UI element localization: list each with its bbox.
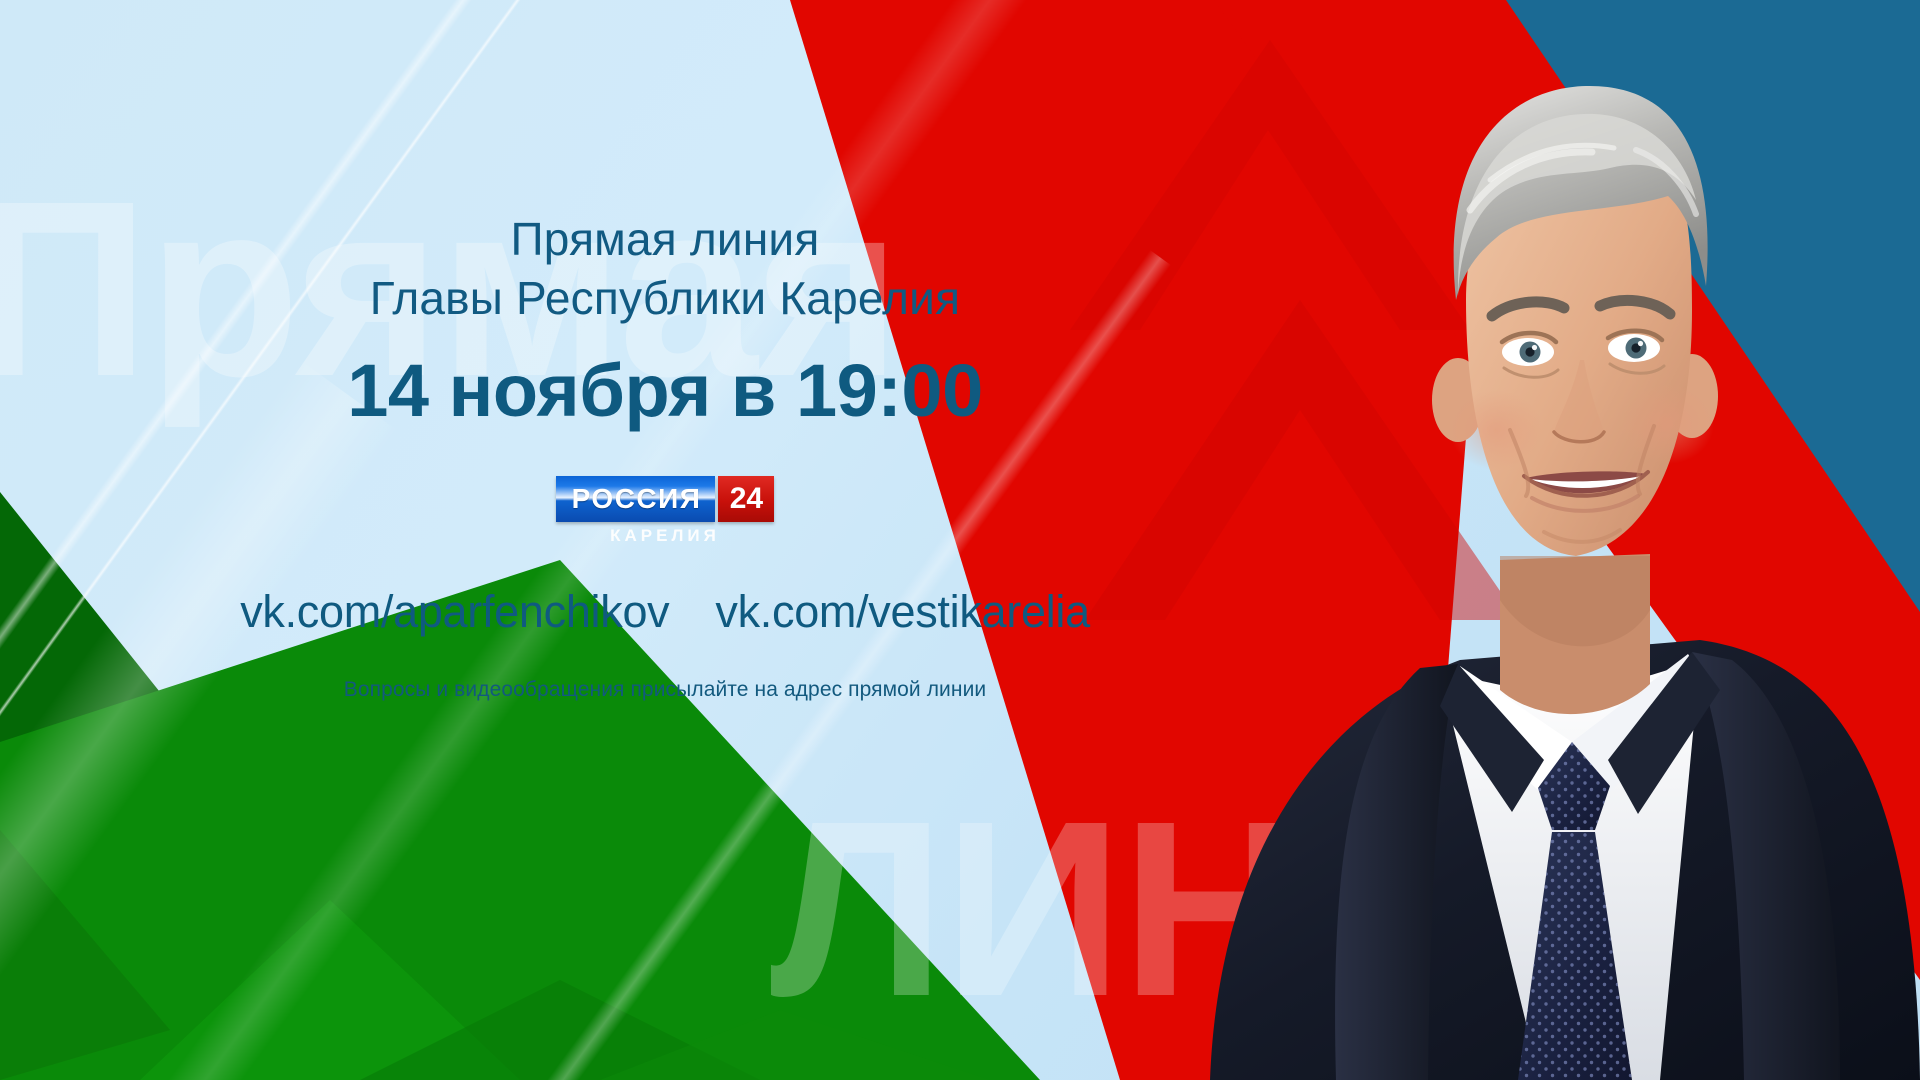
title-line-1: Прямая линия <box>511 213 820 265</box>
vk-link-aparfenchikov[interactable]: vk.com/aparfenchikov <box>240 586 669 638</box>
social-links: vk.com/aparfenchikov vk.com/vestikarelia <box>240 586 1090 638</box>
channel-region-karelia: КАРЕЛИЯ <box>610 526 720 546</box>
channel-logo-row: РОССИЯ 24 <box>556 476 775 522</box>
vk-link-vestikarelia[interactable]: vk.com/vestikarelia <box>715 586 1089 638</box>
channel-name-rossiya: РОССИЯ <box>556 476 716 522</box>
submission-caption: Вопросы и видеообращения присылайте на а… <box>344 678 987 702</box>
channel-logo: РОССИЯ 24 КАРЕЛИЯ <box>556 476 775 546</box>
page-title: Прямая линия Главы Республики Карелия <box>370 210 960 328</box>
channel-number-24: 24 <box>718 476 774 522</box>
broadcast-datetime: 14 ноября в 19:00 <box>347 354 982 428</box>
title-line-2: Главы Республики Карелия <box>370 269 960 328</box>
promo-content: Прямая линия Главы Республики Карелия 14… <box>0 0 1330 1080</box>
broadcast-promo-banner: Прямая ЛИН <box>0 0 1920 1080</box>
